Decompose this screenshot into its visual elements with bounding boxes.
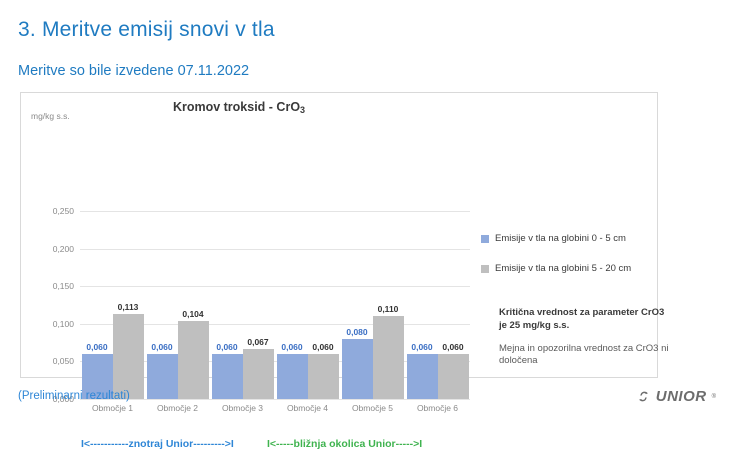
brand-registered-mark: ® (712, 394, 716, 400)
bar-depth-5-20[interactable]: 0,104 (178, 321, 209, 399)
x-axis-tick-label: Območje 4 (275, 403, 340, 413)
annotation-inside-unior: I<-----------znotraj Unior--------->I (81, 438, 234, 450)
y-axis-tick: 0,150 (53, 281, 74, 291)
notes-block: Kritična vrednost za parameter CrO3 je 2… (499, 307, 674, 368)
chart-title-subscript: 3 (300, 105, 305, 115)
bar-value-label: 0,110 (378, 304, 399, 314)
legend-label: Emisije v tla na globini 5 - 20 cm (495, 263, 631, 275)
page-title: 3. Meritve emisij snovi v tla (18, 18, 275, 42)
annotation-nearby-unior: I<-----bližnja okolica Unior----->I (267, 438, 422, 450)
bar-depth-5-20[interactable]: 0,110 (373, 316, 404, 399)
legend-item[interactable]: Emisije v tla na globini 5 - 20 cm (481, 263, 671, 275)
x-axis-tick-label: Območje 3 (210, 403, 275, 413)
chart-title: Kromov troksid - CrO3 (21, 100, 657, 115)
bar-depth-0-5[interactable]: 0,060 (147, 354, 178, 399)
bar-group: 0,0600,104 (145, 211, 210, 399)
bar-value-label: 0,060 (312, 342, 333, 352)
bar-group: 0,0600,060 (275, 211, 340, 399)
bar-value-label: 0,060 (86, 342, 107, 352)
bar-value-label: 0,104 (182, 309, 203, 319)
bar-value-label: 0,113 (118, 302, 139, 312)
chart-panel: Kromov troksid - CrO3 mg/kg s.s. 0,2500,… (20, 92, 658, 378)
bar-depth-0-5[interactable]: 0,060 (212, 354, 243, 399)
bar-value-label: 0,060 (411, 342, 432, 352)
bar-value-label: 0,060 (151, 342, 172, 352)
bar-group: 0,0600,060 (405, 211, 470, 399)
bar-depth-5-20[interactable]: 0,113 (113, 314, 144, 399)
y-axis-tick: 0,050 (53, 356, 74, 366)
gridline (80, 399, 470, 400)
unior-swirl-icon (636, 389, 651, 404)
chart-legend: Emisije v tla na globini 0 - 5 cmEmisije… (481, 233, 671, 293)
bar-depth-5-20[interactable]: 0,060 (308, 354, 339, 399)
brand-logo: UNIOR® (636, 388, 716, 405)
bar-depth-0-5[interactable]: 0,060 (407, 354, 438, 399)
bar-group: 0,0800,110 (340, 211, 405, 399)
bar-group: 0,0600,113 (80, 211, 145, 399)
x-axis-tick-label: Območje 6 (405, 403, 470, 413)
bar-value-label: 0,080 (346, 327, 367, 337)
x-axis-tick-label: Območje 1 (80, 403, 145, 413)
bar-value-label: 0,060 (216, 342, 237, 352)
bar-depth-0-5[interactable]: 0,060 (277, 354, 308, 399)
y-axis-unit-label: mg/kg s.s. (31, 111, 70, 121)
legend-color-swatch (481, 265, 489, 273)
bar-depth-5-20[interactable]: 0,060 (438, 354, 469, 399)
plot-area: 0,2500,2000,1500,1000,0500,000 0,0600,11… (80, 211, 470, 399)
legend-item[interactable]: Emisije v tla na globini 0 - 5 cm (481, 233, 671, 245)
footer-preliminary-note: (Preliminarni rezultati) (18, 390, 130, 402)
y-axis-tick: 0,200 (53, 244, 74, 254)
bar-value-label: 0,060 (442, 342, 463, 352)
x-axis-labels: Območje 1Območje 2Območje 3Območje 4Obmo… (80, 403, 470, 413)
x-axis-tick-label: Območje 5 (340, 403, 405, 413)
y-axis-tick: 0,100 (53, 319, 74, 329)
chart-title-main: Kromov troksid - CrO (173, 100, 300, 114)
note-critical-value: Kritična vrednost za parameter CrO3 je 2… (499, 307, 674, 333)
x-axis-tick-label: Območje 2 (145, 403, 210, 413)
bar-groups: 0,0600,1130,0600,1040,0600,0670,0600,060… (80, 211, 470, 399)
note-limit-value: Mejna in opozorilna vrednost za CrO3 ni … (499, 343, 674, 369)
bar-depth-5-20[interactable]: 0,067 (243, 349, 274, 399)
bar-group: 0,0600,067 (210, 211, 275, 399)
legend-label: Emisije v tla na globini 0 - 5 cm (495, 233, 626, 245)
slide-root: 3. Meritve emisij snovi v tla Meritve so… (0, 0, 730, 420)
legend-color-swatch (481, 235, 489, 243)
bar-value-label: 0,060 (281, 342, 302, 352)
y-axis-tick: 0,250 (53, 206, 74, 216)
brand-wordmark: UNIOR (656, 388, 707, 405)
bar-value-label: 0,067 (247, 337, 268, 347)
page-subtitle: Meritve so bile izvedene 07.11.2022 (18, 63, 249, 79)
bar-depth-0-5[interactable]: 0,080 (342, 339, 373, 399)
